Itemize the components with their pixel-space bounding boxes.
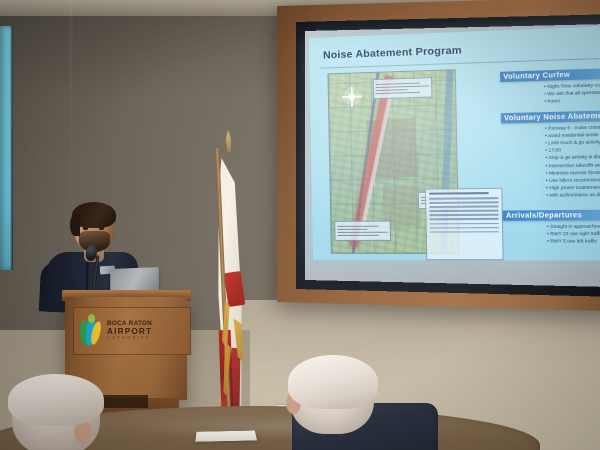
bullet: Limit touch & go activity to Monday – Fr… [545, 138, 600, 147]
bullet: with authorization as directed by ATC [546, 191, 600, 199]
section-bullets: Straight in approaches discouraged RWY 2… [504, 222, 600, 245]
section-heading: Arrivals/Departures [503, 210, 600, 221]
podium-brand-line-3: AUTHORITY [107, 336, 152, 341]
boca-raton-airport-authority-logo-icon [79, 314, 103, 348]
slide-map-legend [425, 188, 504, 261]
map-callout-bottom-left [334, 221, 391, 241]
podium-brand-plaque: BOCA RATON AIRPORT AUTHORITY [73, 307, 191, 355]
projected-slide: Noise Abatement Program [309, 26, 600, 261]
section-bullets: Runway 5 - make crosswind turn as soon a… [502, 123, 600, 199]
bullet: hours. [544, 96, 600, 105]
slide-title: Noise Abatement Program [323, 44, 462, 61]
section-heading: Voluntary Curfew [500, 68, 600, 82]
document-on-table [195, 431, 257, 442]
presentation-room-photo: Noise Abatement Program [0, 0, 600, 450]
slide-section-voluntary-noise-abatement: Voluntary Noise Abatement Runway 5 - mak… [501, 110, 600, 204]
slide-section-arrivals-departures: Arrivals/Departures Straight in approach… [503, 210, 600, 251]
audience-left-hair [8, 374, 104, 426]
section-bullets: Night-Time voluntary curfew is 22:00 – 0… [501, 81, 600, 106]
bullet: RWY 23 use right traffic [547, 230, 600, 238]
bullet: RWY 5 use left traffic [547, 237, 600, 245]
secondary-projection-screen-edge [0, 26, 13, 270]
presenter-hair-side [70, 214, 80, 236]
slide-section-voluntary-curfew: Voluntary Curfew Night-Time voluntary cu… [500, 68, 600, 111]
section-heading: Voluntary Noise Abatement [501, 110, 600, 123]
map-callout-top [373, 77, 433, 99]
podium-brand-text: BOCA RATON AIRPORT AUTHORITY [107, 321, 152, 341]
audience-right-hair [288, 355, 378, 409]
